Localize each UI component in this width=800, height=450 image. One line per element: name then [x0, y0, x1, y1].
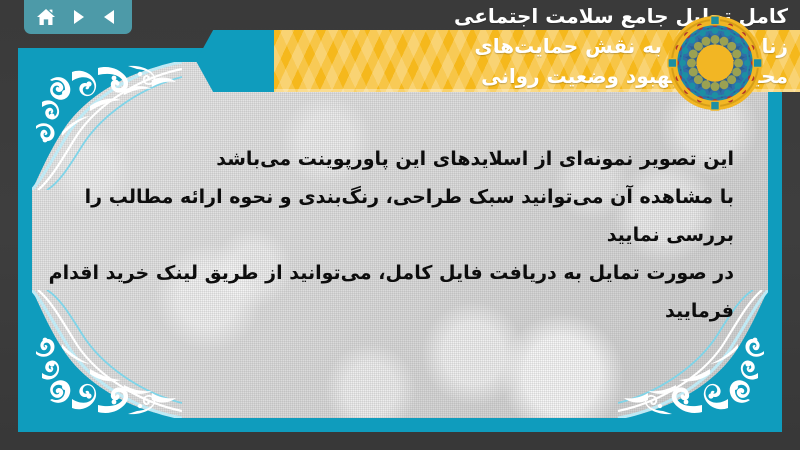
content-panel-inner: این تصویر نمونه‌ای از اسلایدهای این پاور… — [32, 62, 768, 418]
slide-body-text: این تصویر نمونه‌ای از اسلایدهای این پاور… — [44, 140, 734, 330]
body-line-2: با مشاهده آن می‌توانید سبک طراحی، رنگ‌بن… — [44, 178, 734, 254]
triangle-right-icon — [69, 8, 87, 26]
home-button[interactable] — [33, 4, 59, 30]
slide-canvas: این تصویر نمونه‌ای از اسلایدهای این پاور… — [0, 0, 800, 450]
home-icon — [36, 7, 56, 27]
slide-navigation-bar — [24, 0, 132, 34]
body-line-1: این تصویر نمونه‌ای از اسلایدهای این پاور… — [44, 140, 734, 178]
body-line-3: در صورت تمایل به دریافت فایل کامل، می‌تو… — [44, 254, 734, 330]
next-slide-button[interactable] — [65, 4, 91, 30]
previous-slide-button[interactable] — [97, 4, 123, 30]
triangle-left-icon — [101, 8, 119, 26]
persian-medallion-icon — [666, 14, 764, 112]
